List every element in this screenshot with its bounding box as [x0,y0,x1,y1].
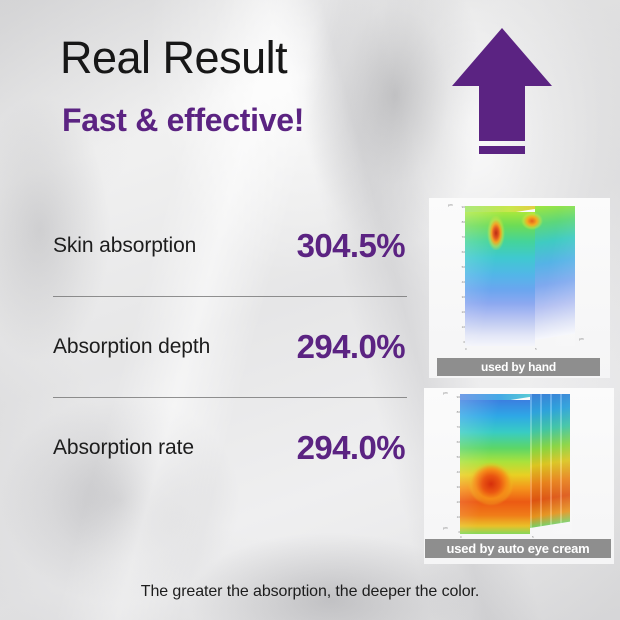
heatmap-caption-used-by-auto-eye-cream: used by auto eye cream [425,539,611,558]
up-arrow-base [479,146,525,154]
heatmap-axis-unit: μm [579,338,584,341]
stat-label: Absorption rate [53,433,194,463]
up-arrow-shaft [479,85,525,141]
heatmap-gloss [460,394,572,534]
heatmap-x-axis: 0 5 [465,348,575,356]
heatmap-y-axis: 90 80 70 60 50 40 30 20 10 0 [451,206,465,348]
heatmap-plot [465,206,575,346]
stat-value: 304.5% [297,227,407,265]
stat-value: 294.0% [297,328,407,366]
stats-table: Skin absorption 304.5% Absorption depth … [53,196,407,498]
table-row: Absorption rate 294.0% [53,398,407,498]
heatmap-y-axis: 90 80 70 60 50 40 30 20 10 0 [446,396,460,538]
stat-label: Absorption depth [53,332,210,362]
page-subtitle: Fast & effective! [62,104,304,138]
page-title: Real Result [60,34,287,81]
table-row: Skin absorption 304.5% [53,196,407,296]
heatmap-used-by-hand: μm μm 90 80 70 60 50 40 30 20 10 0 0 5 [429,198,610,378]
stat-label: Skin absorption [53,231,196,261]
up-arrow-icon [452,28,552,154]
stat-value: 294.0% [297,429,407,467]
promo-poster: Real Result Fast & effective! Skin absor… [0,0,620,620]
axis-tick: 0 [465,348,467,351]
axis-tick: 5 [535,348,537,351]
up-arrow-head [452,28,552,86]
heatmap-caption-used-by-hand: used by hand [437,358,600,376]
heatmap-used-by-auto-eye-cream: μm μm 90 80 70 60 50 40 30 20 10 0 0 [424,388,614,564]
footer-caption: The greater the absorption, the deeper t… [0,583,620,601]
heatmap-axis-unit: μm [443,392,448,395]
table-row: Absorption depth 294.0% [53,297,407,397]
heatmap-gloss [465,206,575,346]
heatmap-plot [460,394,572,534]
